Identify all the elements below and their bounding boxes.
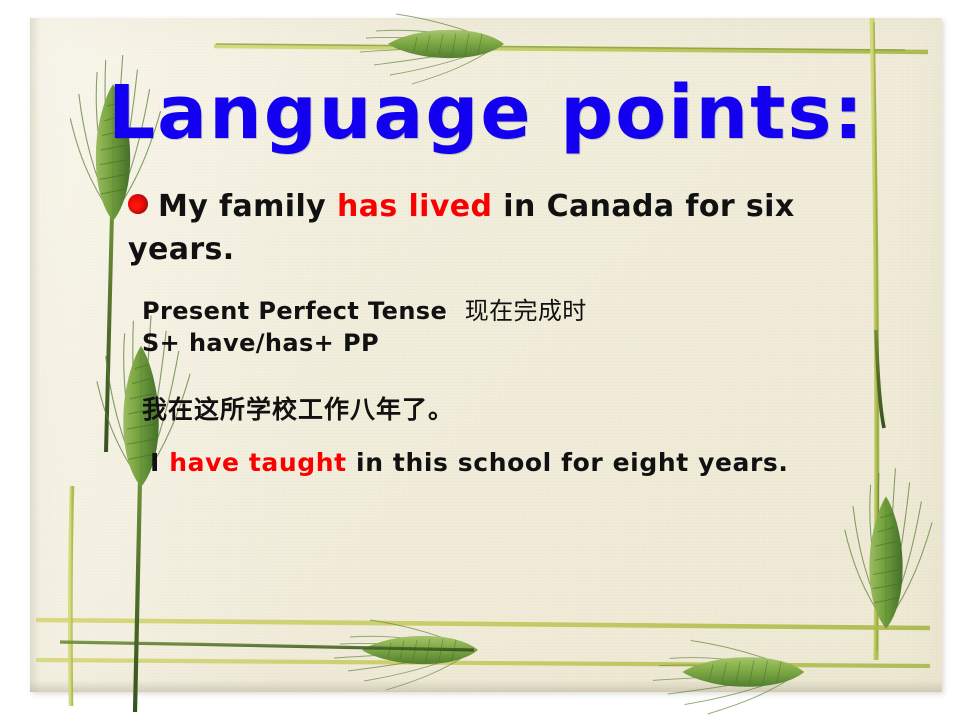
panel-edge-bottom: [30, 680, 942, 692]
example-english-before: I: [150, 448, 169, 477]
tense-name-en: Present Perfect Tense: [142, 297, 447, 325]
slide-canvas: Language points: My family has lived in …: [0, 0, 960, 720]
tense-name-row: Present Perfect Tense 现在完成时: [142, 296, 587, 328]
red-sphere-bullet-icon: [128, 194, 148, 214]
bullet-text-highlight: has lived: [337, 189, 492, 224]
tense-name-cn: 现在完成时: [465, 297, 587, 325]
bullet-text-segment-1: My family: [158, 189, 337, 224]
panel-edge-left: [30, 18, 40, 692]
example-english-after: in this school for eight years.: [347, 448, 789, 477]
bullet-line-1: My family has lived in Canada for six ye…: [128, 186, 888, 271]
example-english-sentence: I have taught in this school for eight y…: [150, 448, 789, 477]
page-title: Language points:: [108, 70, 865, 156]
example-english-highlight: have taught: [169, 448, 347, 477]
tense-note-block: Present Perfect Tense 现在完成时 S+ have/has+…: [142, 296, 587, 360]
tense-formula: S+ have/has+ PP: [142, 328, 587, 360]
example-chinese-sentence: 我在这所学校工作八年了。: [142, 390, 454, 426]
